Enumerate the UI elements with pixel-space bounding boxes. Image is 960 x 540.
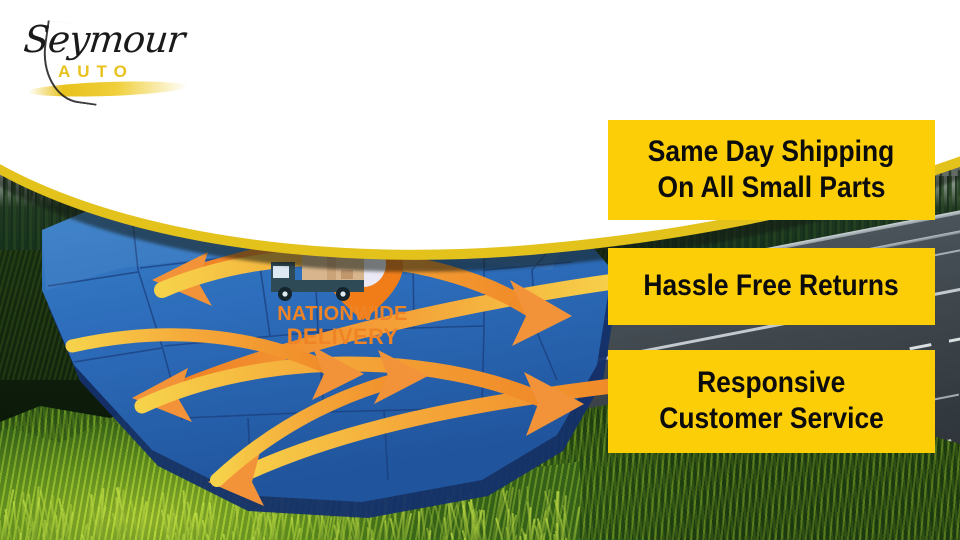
promo-banner: NATIONWIDE DELIVERY Seymour AUTO Same Da… xyxy=(0,0,960,540)
grass-blade-icon xyxy=(223,534,227,540)
grass-blade-icon xyxy=(450,532,458,540)
grass-blade-icon xyxy=(231,531,235,540)
feature-box-hassle-free-returns[interactable]: Hassle Free Returns xyxy=(608,248,935,325)
feature-line: Customer Service xyxy=(659,404,884,435)
feature-line: Same Day Shipping xyxy=(648,137,894,168)
delivery-label-line1: NATIONWIDE xyxy=(255,304,430,324)
feature-line: Hassle Free Returns xyxy=(644,271,899,302)
feature-line: Responsive xyxy=(697,368,845,399)
delivery-label-line2: DELIVERY xyxy=(255,326,430,348)
feature-line: On All Small Parts xyxy=(658,173,886,204)
grass-blade-icon xyxy=(154,532,156,540)
feature-box-same-day-shipping[interactable]: Same Day Shipping On All Small Parts xyxy=(608,120,935,220)
logo-script-text: Seymour xyxy=(22,18,187,61)
logo-subtitle-text: AUTO xyxy=(58,62,134,82)
seymour-auto-logo[interactable]: Seymour AUTO xyxy=(18,16,198,96)
nationwide-delivery-label: NATIONWIDE DELIVERY xyxy=(255,304,430,348)
feature-box-responsive-customer-service[interactable]: Responsive Customer Service xyxy=(608,350,935,453)
grass-blade-icon xyxy=(385,520,391,540)
grass-blade-icon xyxy=(543,533,545,540)
